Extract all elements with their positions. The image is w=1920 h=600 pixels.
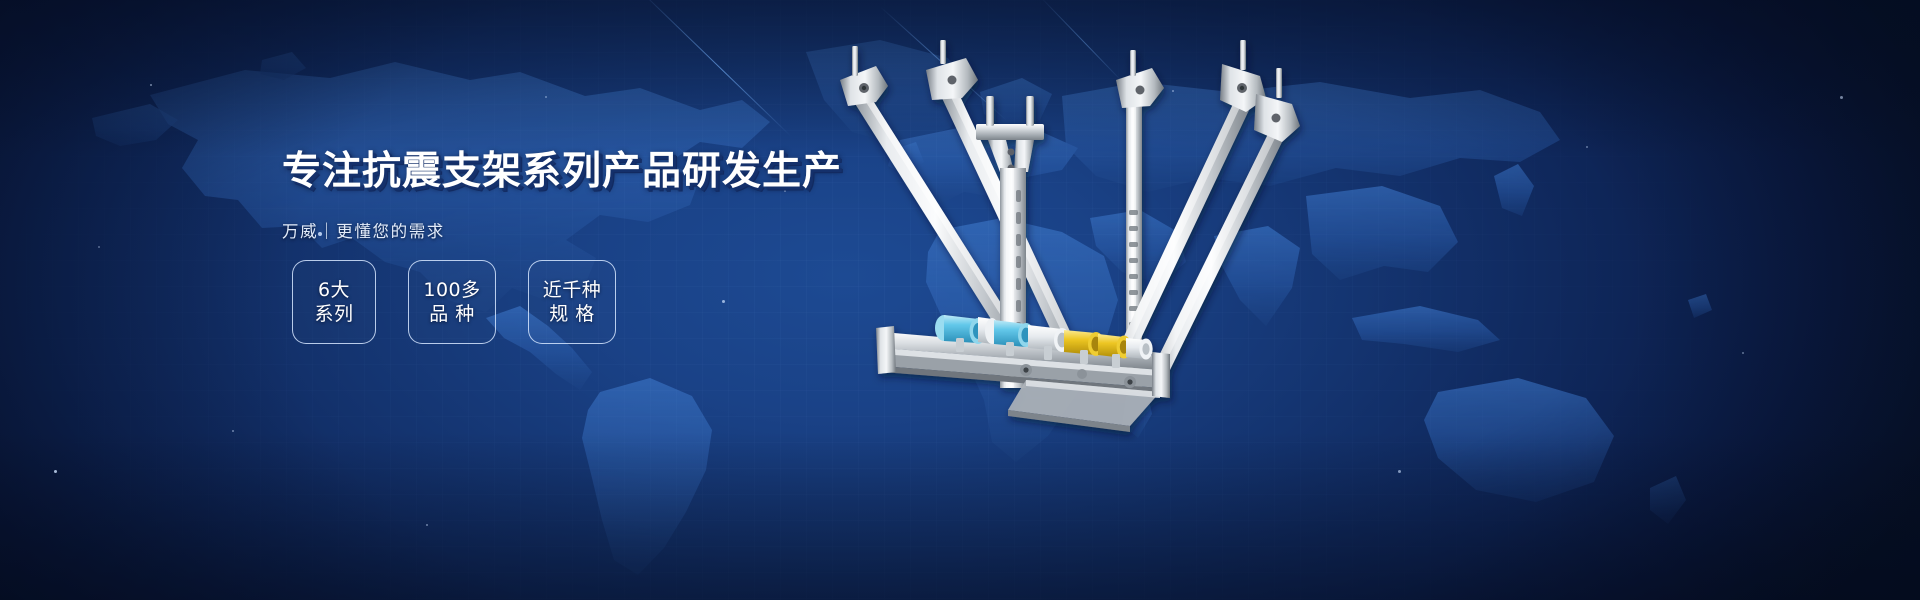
badge-line1: 6大 <box>318 278 350 302</box>
hero-copy: 专注抗震支架系列产品研发生产 万威｜更懂您的需求 <box>282 150 842 242</box>
badge-line2: 规 格 <box>549 302 595 326</box>
badge-group: 6大 系列 100多 品 种 近千种 规 格 <box>292 260 616 344</box>
page-title: 专注抗震支架系列产品研发生产 <box>282 150 842 195</box>
badge-line2: 品 种 <box>429 302 475 326</box>
badge-varieties[interactable]: 100多 品 种 <box>408 260 496 344</box>
hero-banner: 专注抗震支架系列产品研发生产 万威｜更懂您的需求 6大 系列 100多 品 种 … <box>0 0 1920 600</box>
badge-line2: 系列 <box>314 302 353 326</box>
product-image-seismic-bracing <box>830 40 1390 440</box>
badge-line1: 近千种 <box>543 278 602 302</box>
badge-line1: 100多 <box>423 278 480 302</box>
badge-specifications[interactable]: 近千种 规 格 <box>528 260 616 344</box>
badge-series[interactable]: 6大 系列 <box>292 260 376 344</box>
page-subtitle: 万威｜更懂您的需求 <box>282 218 842 242</box>
